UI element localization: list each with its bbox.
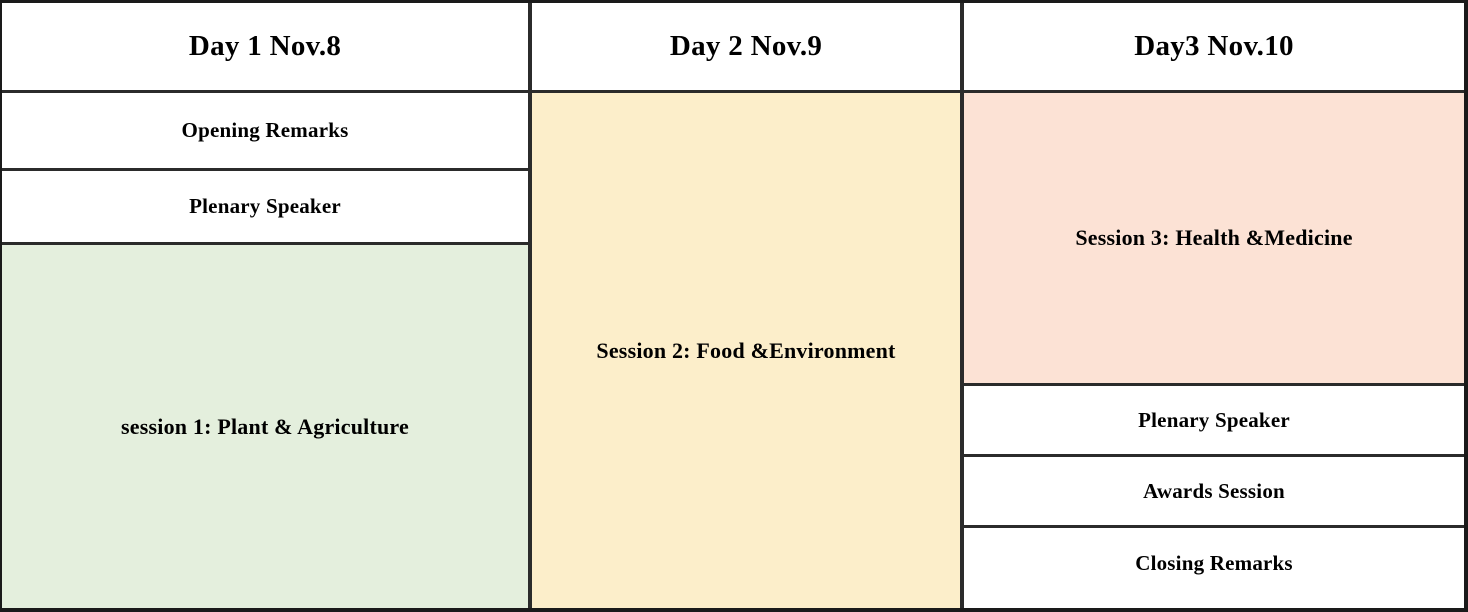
day2-header: Day 2 Nov.9 [532, 3, 960, 93]
day3-awards-session-cell: Awards Session [964, 457, 1464, 528]
day3-header: Day3 Nov.10 [964, 3, 1464, 93]
day3-plenary-speaker-cell: Plenary Speaker [964, 386, 1464, 457]
day1-opening-remarks-cell: Opening Remarks [2, 93, 528, 171]
day-column-day1: Day 1 Nov.8 Opening Remarks Plenary Spea… [2, 3, 532, 608]
day3-closing-remarks-cell: Closing Remarks [964, 528, 1464, 599]
day3-session-3-cell: Session 3: Health &Medicine [964, 93, 1464, 386]
day1-session-1-cell: session 1: Plant & Agriculture [2, 245, 528, 608]
conference-schedule: Day 1 Nov.8 Opening Remarks Plenary Spea… [0, 0, 1468, 612]
day-column-day2: Day 2 Nov.9 Session 2: Food &Environment [532, 3, 964, 608]
day2-session-2-cell: Session 2: Food &Environment [532, 93, 960, 608]
day1-plenary-speaker-cell: Plenary Speaker [2, 171, 528, 245]
schedule-table: Day 1 Nov.8 Opening Remarks Plenary Spea… [0, 0, 1468, 612]
day-column-day3: Day3 Nov.10 Session 3: Health &Medicine … [964, 3, 1464, 608]
day1-header: Day 1 Nov.8 [2, 3, 528, 93]
